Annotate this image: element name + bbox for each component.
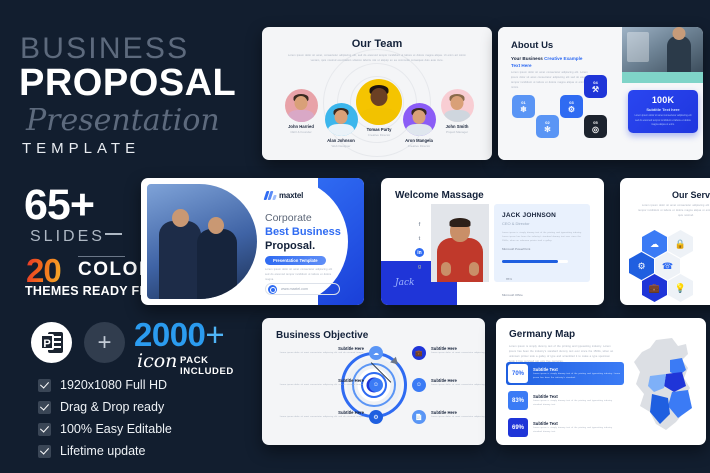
icon-tile-05[interactable]: 05 ◎ xyxy=(584,115,607,138)
icon-tile-04[interactable]: 04 ⚒ xyxy=(584,75,607,98)
icon-count-plus: + xyxy=(205,316,224,353)
avatar xyxy=(441,89,474,122)
item-text: Lorem ipsum dolor sit amet consectetur a… xyxy=(272,383,364,387)
slide-preview-corporate[interactable]: maxtel Corporate Best Business Proposal.… xyxy=(141,178,364,305)
corp-description: Lorem ipsum dolor sit amet consectetur a… xyxy=(265,268,337,283)
list-item[interactable]: Subtitle Here Lorem ipsum dolor sit amet… xyxy=(431,410,485,419)
member-role: Web Designer xyxy=(318,144,364,148)
skill-label: Microsoft PowerPoint xyxy=(502,247,582,251)
support-icon[interactable]: ☎ xyxy=(655,252,680,280)
check-icon xyxy=(38,423,51,436)
twitter-icon[interactable]: t xyxy=(415,234,424,243)
snowflake-icon: ❄ xyxy=(520,106,527,114)
row-text: Lorem ipsum is simply dummy text of the … xyxy=(533,399,621,407)
briefcase-icon[interactable]: 💼 xyxy=(412,346,426,360)
germany-map-graphic xyxy=(626,336,704,436)
user-icon[interactable]: ☺ xyxy=(369,378,383,392)
person-icon[interactable]: ☺ xyxy=(412,378,426,392)
powerpoint-letter: P xyxy=(40,334,54,350)
slide-preview-about-us[interactable]: About Us Your Business Creative Example … xyxy=(498,27,703,160)
member-name: Aron Mangela xyxy=(396,138,442,143)
gear-icon[interactable]: ⚙ xyxy=(369,410,383,424)
person-photo xyxy=(431,204,489,282)
settings-icon[interactable]: ⚙ xyxy=(629,252,654,280)
feature-label: Lifetime update xyxy=(60,444,145,458)
website-pill[interactable]: www.maxtel.com xyxy=(265,283,340,295)
page-title: Germany Map xyxy=(509,329,575,340)
row-text: Lorem ipsum is simply dummy text of the … xyxy=(533,372,621,380)
hero-line-business: BUSINESS xyxy=(20,32,189,66)
slide-preview-objective[interactable]: Business Objective Subtitle Here Lorem i… xyxy=(262,318,485,445)
avatar xyxy=(403,103,436,136)
page-title: Welcome Massage xyxy=(395,190,484,201)
tile-number: 03 xyxy=(569,100,573,105)
skill-percent: 85% xyxy=(506,277,512,281)
themes-label: THEMES READY FILE xyxy=(25,284,160,298)
plus-icon: + xyxy=(84,322,125,363)
tile-number: 04 xyxy=(593,80,597,85)
icon-pack-label: PACK INCLUDED xyxy=(180,355,262,377)
color-rule xyxy=(78,256,125,257)
table-row[interactable]: 83% Subtitle Text Lorem ipsum is simply … xyxy=(506,389,624,412)
icon-tile-02[interactable]: 02 ✻ xyxy=(536,115,559,138)
briefcase-icon[interactable]: 💼 xyxy=(642,274,667,302)
idea-icon[interactable]: 💡 xyxy=(668,274,693,302)
list-item[interactable]: Subtitle Here Lorem ipsum dolor sit amet… xyxy=(272,410,364,419)
check-icon xyxy=(38,401,51,414)
hero-line-proposal: PROPOSAL xyxy=(19,62,236,105)
list-item[interactable]: Subtitle Here Lorem ipsum dolor sit amet… xyxy=(272,378,364,387)
slides-dash xyxy=(105,233,122,235)
brand-logo: maxtel xyxy=(265,191,303,200)
tile-number: 05 xyxy=(593,120,597,125)
feature-list: 1920x1080 Full HD Drag & Drop ready 100%… xyxy=(38,378,172,466)
tile-number: 01 xyxy=(521,100,525,105)
slide-preview-germany-map[interactable]: Germany Map Lorem ipsum is simply dummy … xyxy=(496,318,706,445)
page-title: About Us xyxy=(511,40,553,51)
icon-count-number: 2000 xyxy=(134,316,205,353)
member-name: Alan Johnson xyxy=(318,138,364,143)
list-item: 100% Easy Editable xyxy=(38,422,172,436)
slides-label: SLIDES xyxy=(30,228,105,246)
tools-icon: ⚒ xyxy=(592,86,599,94)
avatar xyxy=(285,89,318,122)
avatar xyxy=(325,103,358,136)
person-role: CEO & Director xyxy=(502,221,582,226)
item-text: Lorem ipsum dolor sit amet consectetur a… xyxy=(431,383,485,387)
item-text: Lorem ipsum dolor sit amet consectetur a… xyxy=(431,415,485,419)
logo-text: maxtel xyxy=(279,191,303,200)
gear-icon: ⚙ xyxy=(568,106,575,114)
slide-preview-our-team[interactable]: Our Team Lorem ipsum dolor sit amet, con… xyxy=(262,27,492,160)
item-text: Lorem ipsum dolor sit amet consectetur a… xyxy=(431,351,485,355)
corp-heading-1: Corporate xyxy=(265,212,312,224)
skill-row: Microsoft Office 70% xyxy=(502,293,582,305)
page-title: Business Objective xyxy=(276,330,368,341)
logo-mark-icon xyxy=(265,191,276,200)
progress-bar xyxy=(502,260,568,263)
list-item[interactable]: Subtitle Here Lorem ipsum dolor sit amet… xyxy=(431,346,485,355)
corp-heading-2: Best Business xyxy=(265,226,341,238)
percent-badge: 69% xyxy=(508,418,528,437)
item-text: Lorem ipsum dolor sit amet consectetur a… xyxy=(272,415,364,419)
icon-script-label: icon xyxy=(137,350,177,372)
list-item[interactable]: Subtitle Here Lorem ipsum dolor sit amet… xyxy=(431,378,485,387)
list-item: Drag & Drop ready xyxy=(38,400,172,414)
cloud-icon[interactable]: ☁ xyxy=(369,346,383,360)
about-subtitle: Your Business Creative Example Text Here xyxy=(511,56,591,70)
facebook-icon[interactable]: f xyxy=(415,220,424,229)
list-item[interactable]: Subtitle Here Lorem ipsum dolor sit amet… xyxy=(272,346,364,355)
document-icon[interactable]: 📄 xyxy=(412,410,426,424)
stat-subtitle: Subtitle Text here xyxy=(634,107,692,112)
hero-line-presentation: Presentation xyxy=(26,103,220,138)
feature-label: 1920x1080 Full HD xyxy=(60,378,167,392)
team-description: Lorem ipsum dolor sit amet, consectetur … xyxy=(285,54,469,64)
about-description: Lorem ipsum dolor sit amet consectetur a… xyxy=(511,71,593,91)
slides-count: 65+ xyxy=(24,181,94,230)
feature-label: Drag & Drop ready xyxy=(60,400,164,414)
status-badge: Presentation Template xyxy=(265,256,326,265)
person-name: JACK JOHNSON xyxy=(502,212,582,219)
page-title: Our Services xyxy=(672,190,710,200)
globe-icon xyxy=(268,285,277,294)
skill-row: Microsoft PowerPoint 85% xyxy=(502,247,582,289)
social-links[interactable]: f t in g xyxy=(415,220,424,276)
google-icon[interactable]: g xyxy=(415,262,424,271)
percent-badge: 83% xyxy=(508,391,528,410)
linkedin-icon[interactable]: in xyxy=(415,248,424,257)
item-text: Lorem ipsum dolor sit amet consectetur a… xyxy=(272,351,364,355)
stat-value: 100K xyxy=(634,95,692,105)
row-text: Lorem ipsum is simply dummy text of the … xyxy=(533,426,621,434)
corp-heading-3: Proposal. xyxy=(265,240,315,252)
member-role: Project Manager xyxy=(434,130,480,134)
check-icon xyxy=(38,379,51,392)
powerpoint-icon: P xyxy=(31,322,72,363)
list-item: 1920x1080 Full HD xyxy=(38,378,172,392)
about-subtitle-plain: Your Business xyxy=(511,56,544,61)
person-info-card: JACK JOHNSON CEO & Director Lorem ipsum … xyxy=(494,204,590,282)
about-photo xyxy=(622,27,703,83)
lock-icon[interactable]: 🔒 xyxy=(668,230,693,258)
skill-label: Microsoft Office xyxy=(502,293,582,297)
list-item: Lifetime update xyxy=(38,444,172,458)
table-row[interactable]: 69% Subtitle Text Lorem ipsum is simply … xyxy=(506,416,624,439)
cloud-icon[interactable]: ☁ xyxy=(642,230,667,258)
icon-count: 2000+ xyxy=(134,316,224,354)
icon-tile-01[interactable]: 01 ❄ xyxy=(512,95,535,118)
tile-number: 02 xyxy=(545,120,549,125)
hex-description: Lorem ipsum dolor sit amet consectetur a… xyxy=(638,204,710,219)
member-name: John Smith xyxy=(434,124,480,129)
icon-tile-03[interactable]: 03 ⚙ xyxy=(560,95,583,118)
website-url: www.maxtel.com xyxy=(281,287,308,291)
slide-preview-services[interactable]: Our Services Lorem ipsum dolor sit amet … xyxy=(620,178,710,305)
table-row[interactable]: 70% Subtitle Text Lorem ipsum is simply … xyxy=(506,362,624,385)
target-icon: ◎ xyxy=(592,126,599,134)
list-item[interactable]: John Smith Project Manager xyxy=(434,89,480,134)
slide-preview-welcome[interactable]: Welcome Massage Jack f t in g JACK JOHNS… xyxy=(381,178,604,305)
feature-label: 100% Easy Editable xyxy=(60,422,172,436)
stat-text: Lorem ipsum dolor sit amet consectetur a… xyxy=(634,114,692,128)
percent-badge: 70% xyxy=(508,364,528,383)
member-role: Creative Director xyxy=(396,144,442,148)
asterisk-icon: ✻ xyxy=(544,126,551,134)
corp-photo xyxy=(147,184,257,299)
check-icon xyxy=(38,445,51,458)
welcome-description: Lorem ipsum is simply dummy text of the … xyxy=(502,231,582,243)
page-title: Our Team xyxy=(262,38,492,50)
stat-card: 100K Subtitle Text here Lorem ipsum dolo… xyxy=(628,90,698,133)
hero-line-template: TEMPLATE xyxy=(22,140,140,157)
